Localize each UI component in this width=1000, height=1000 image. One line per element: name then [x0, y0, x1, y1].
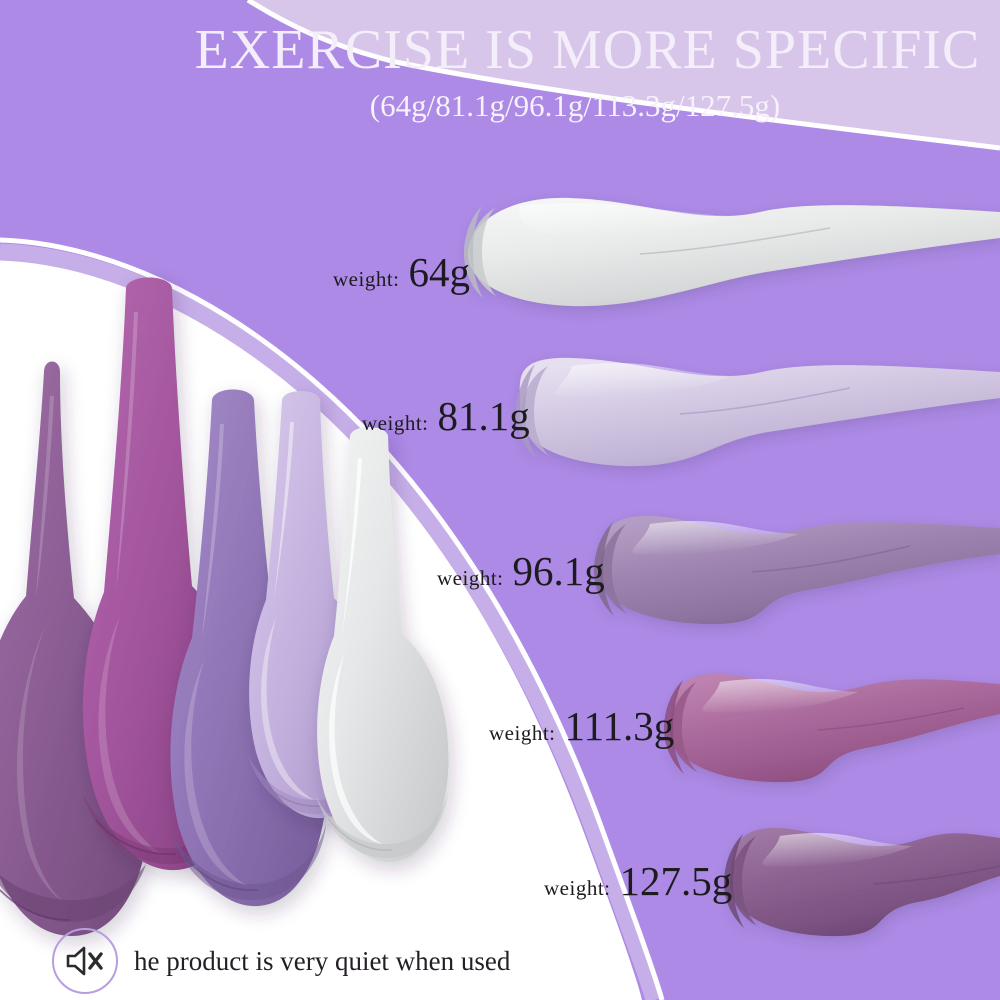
mute-icon-ring	[52, 928, 118, 994]
weight-label-4-value: 111.3g	[565, 702, 675, 750]
weight-label-3-value: 96.1g	[513, 547, 605, 595]
weight-label-1-text: weight:	[333, 267, 400, 292]
page-title: EXERCISE IS MORE SPECIFIC	[0, 18, 1000, 82]
weight-label-2-value: 81.1g	[438, 392, 530, 440]
weight-label-5-value: 127.5g	[620, 857, 733, 905]
weight-label-5: weight: 127.5g	[544, 857, 732, 905]
page-subtitle: (64g/81.1g/96.1g/113.3g/127.5g)	[0, 88, 1000, 124]
weight-label-2: weight: 81.1g	[362, 392, 530, 440]
weight-label-1: weight: 64g	[333, 248, 470, 296]
weight-label-5-text: weight:	[544, 876, 611, 901]
weight-label-4: weight: 111.3g	[489, 702, 674, 750]
speaker-mute-icon	[65, 944, 105, 978]
weight-label-2-text: weight:	[362, 411, 429, 436]
background-artwork	[0, 0, 1000, 1000]
infographic-canvas: EXERCISE IS MORE SPECIFIC (64g/81.1g/96.…	[0, 0, 1000, 1000]
weight-label-3-text: weight:	[437, 566, 504, 591]
weight-label-4-text: weight:	[489, 721, 556, 746]
quiet-note-text: he product is very quiet when used	[134, 946, 510, 977]
weight-label-3: weight: 96.1g	[437, 547, 605, 595]
quiet-note: he product is very quiet when used	[52, 928, 510, 994]
weight-label-1-value: 64g	[409, 248, 471, 296]
